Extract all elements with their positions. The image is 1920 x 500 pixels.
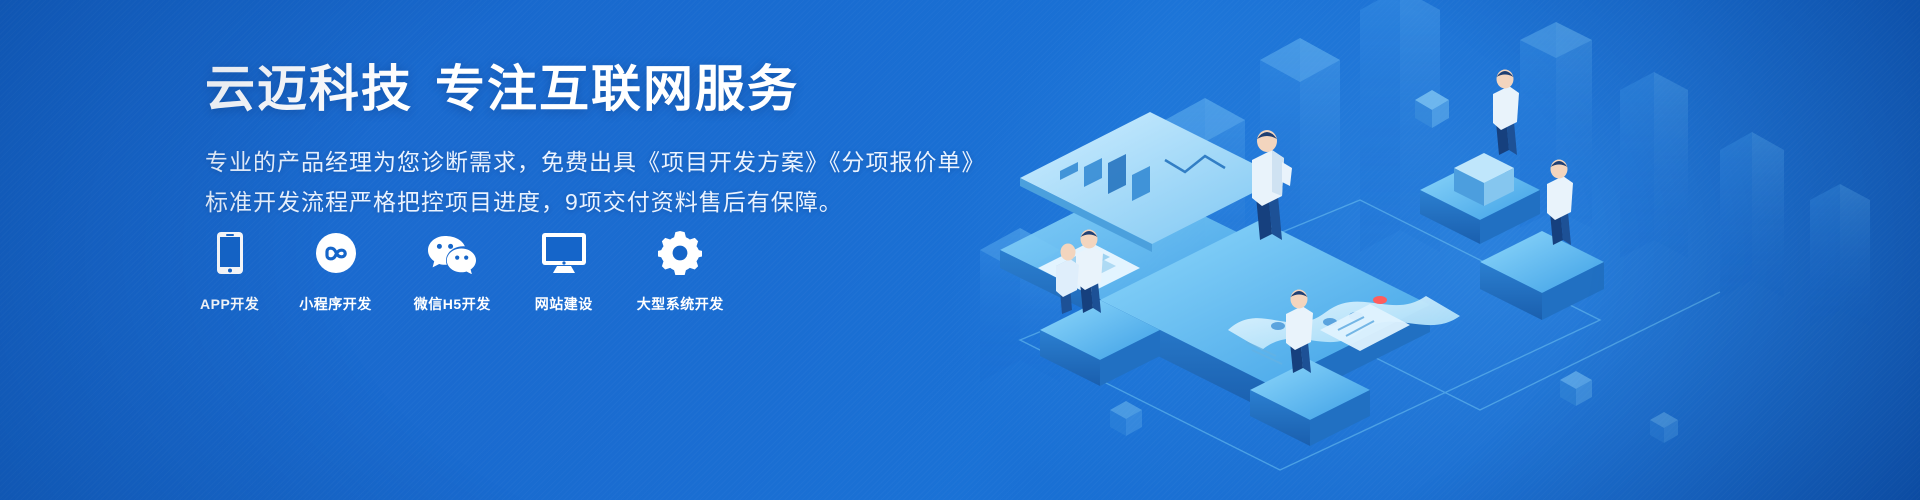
subcopy-line-1: 专业的产品经理为您诊断需求，免费出具《项目开发方案》《分项报价单》	[205, 142, 925, 182]
service-item-wechat-h5[interactable]: 微信H5开发	[414, 230, 491, 314]
character-right-upper	[1493, 70, 1519, 156]
service-item-website[interactable]: 网站建设	[535, 230, 593, 314]
service-label: 微信H5开发	[414, 294, 491, 314]
headline-brand: 云迈科技	[205, 61, 413, 117]
service-item-large-system[interactable]: 大型系统开发	[637, 230, 724, 314]
service-label: APP开发	[200, 294, 259, 314]
service-item-miniprogram[interactable]: 小程序开发	[299, 230, 372, 314]
page-title: 云迈科技专注互联网服务	[205, 62, 925, 116]
gear-icon	[658, 230, 702, 276]
subcopy-line-2: 标准开发流程严格把控项目进度，9项交付资料售后有保障。	[205, 182, 925, 222]
service-label: 网站建设	[535, 294, 593, 314]
mobile-phone-icon	[216, 230, 244, 276]
service-item-app[interactable]: APP开发	[200, 230, 259, 314]
hero-subcopy: 专业的产品经理为您诊断需求，免费出具《项目开发方案》《分项报价单》 标准开发流程…	[205, 142, 925, 222]
mini-program-icon	[315, 230, 357, 276]
service-list: APP开发 小程序开发 微信	[200, 230, 742, 314]
service-label: 大型系统开发	[637, 294, 724, 314]
wechat-icon	[427, 230, 477, 276]
hero-copy: 云迈科技专注互联网服务 专业的产品经理为您诊断需求，免费出具《项目开发方案》《分…	[205, 62, 925, 222]
service-label: 小程序开发	[299, 294, 372, 314]
monitor-icon	[541, 230, 587, 276]
isometric-illustration	[960, 0, 1920, 500]
hero-banner: 云迈科技专注互联网服务 专业的产品经理为您诊断需求，免费出具《项目开发方案》《分…	[0, 0, 1920, 500]
headline-tagline: 专注互联网服务	[435, 61, 799, 117]
